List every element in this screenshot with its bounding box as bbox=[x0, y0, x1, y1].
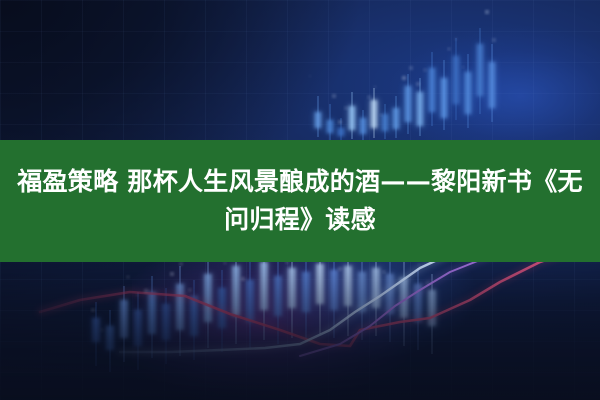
title-card: 福盈策略 那杯人生风景酿成的酒——黎阳新书《无问归程》读感 bbox=[0, 0, 600, 400]
candle-group-upper bbox=[314, 28, 497, 141]
banner-title-text: 福盈策略 那杯人生风景酿成的酒——黎阳新书《无问归程》读感 bbox=[10, 163, 590, 239]
background-bottom-fade bbox=[0, 264, 600, 400]
title-banner: 福盈策略 那杯人生风景酿成的酒——黎阳新书《无问归程》读感 bbox=[0, 140, 600, 262]
